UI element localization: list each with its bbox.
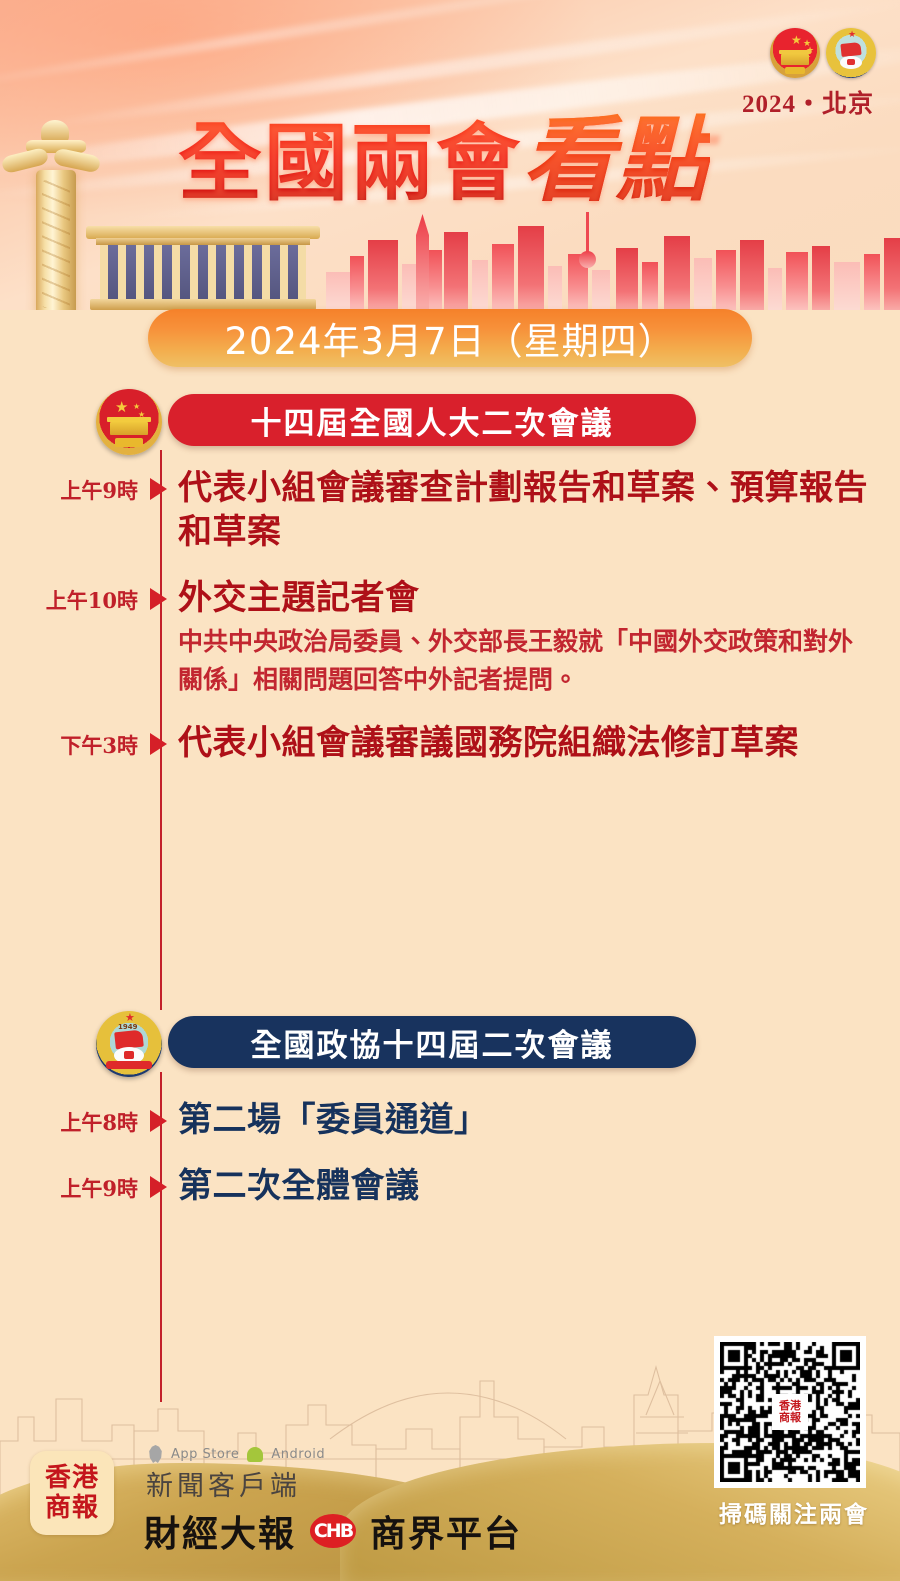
qr-code-image[interactable]: 香港商報 (714, 1336, 866, 1488)
timeline-item-title: 第二場「委員通道」 (178, 1098, 870, 1142)
city-skyline-graphic (320, 206, 900, 310)
national-emblem-prc-icon: ★ ★ ★ ★ ★ (96, 389, 162, 455)
tagline-left-label: 財經大報 (144, 1505, 296, 1557)
section-banner-npc: ★ ★ ★ ★ ★ 十四屆全國人大二次會議 (0, 394, 900, 450)
timeline-item-time: 上午8時 (0, 1098, 148, 1137)
section-title-bar-cppcc: 全國政協十四屆二次會議 (168, 1016, 696, 1068)
date-banner: 2024年3月7日（星期四） (148, 309, 752, 367)
qr-code-block[interactable]: 香港商報 掃碼關注兩會 (714, 1336, 874, 1529)
skyline-building (716, 250, 736, 310)
timeline-item-desc: 中共中央政治局委員、外交部長王毅就「中國外交政策和對外關係」相關問題回答中外記者… (178, 623, 870, 699)
light-swoosh-5 (0, 0, 696, 95)
section-cppcc: ★ 1949 全國政協十四屆二次會議 上午8時 第二場「委員通道」 (0, 1016, 900, 1214)
timeline-item: 上午9時 代表小組會議審查計劃報告和草案、預算報告和草案 (0, 466, 900, 554)
qr-center-line2: 商報 (779, 1411, 801, 1424)
timeline-item-body: 代表小組會議審議國務院組織法修訂草案 (178, 721, 900, 765)
hk-logo-line1: 香港 (45, 1463, 99, 1493)
date-banner-label: 2024年3月7日（星期四） (224, 311, 675, 365)
chb-logo-icon: CHB (310, 1514, 356, 1548)
timeline-item: 下午3時 代表小組會議審議國務院組織法修訂草案 (0, 721, 900, 765)
timeline-item-time: 下午3時 (0, 721, 148, 760)
skyline-building (694, 258, 712, 310)
timeline-cppcc: 上午8時 第二場「委員通道」 上午9時 第二次全體會議 (0, 1098, 900, 1208)
skyline-building (864, 254, 880, 310)
skyline-building (592, 270, 610, 310)
skyline-building (472, 260, 488, 310)
poster-header: ★ ★ ★ ★ ★ ★ 2024・北京 全國兩會看點 (0, 0, 900, 310)
timeline-arrow-icon (150, 1164, 178, 1198)
timeline-item-title: 外交主題記者會 (178, 576, 870, 620)
timeline-item: 上午9時 第二次全體會議 (0, 1164, 900, 1208)
section-title-bar-npc: 十四屆全國人大二次會議 (168, 394, 696, 446)
skyline-building (812, 246, 830, 310)
timeline-arrow-icon (150, 576, 178, 610)
timeline-npc: 上午9時 代表小組會議審查計劃報告和草案、預算報告和草案 上午10時 外交主題記… (0, 466, 900, 765)
apple-icon (148, 1445, 163, 1463)
page-title-accent: 看點 (522, 106, 710, 214)
skyline-building (786, 252, 808, 310)
app-store-badges: App Store Android (148, 1445, 325, 1463)
skyline-building (884, 238, 900, 310)
qr-center-logo: 香港商報 (772, 1394, 808, 1430)
timeline-item: 上午8時 第二場「委員通道」 (0, 1098, 900, 1142)
section-title-cppcc: 全國政協十四屆二次會議 (251, 1020, 614, 1065)
skyline-building (616, 248, 638, 310)
hk-commercial-daily-logo: 香港商報 (30, 1451, 114, 1535)
section-title-npc: 十四屆全國人大二次會議 (251, 398, 614, 443)
skyline-building (350, 256, 364, 310)
android-icon (247, 1447, 263, 1462)
timeline-item-body: 第二場「委員通道」 (178, 1098, 900, 1142)
timeline-item-body: 第二次全體會議 (178, 1164, 900, 1208)
timeline-arrow-icon (150, 721, 178, 755)
footer-tagline: 財經大報 CHB 商界平台 (144, 1505, 522, 1557)
news-client-label: 新聞客戶端 (146, 1464, 301, 1503)
timeline-item-time: 上午9時 (0, 466, 148, 505)
skyline-building (326, 272, 352, 310)
timeline-arrow-icon (150, 466, 178, 500)
qr-caption: 掃碼關注兩會 (714, 1495, 874, 1529)
poster-root: ★ ★ ★ ★ ★ ★ 2024・北京 全國兩會看點 2024年3月7日（星期四… (0, 0, 900, 1581)
skyline-building (368, 240, 398, 310)
timeline-item-body: 代表小組會議審查計劃報告和草案、預算報告和草案 (178, 466, 900, 554)
skyline-building (768, 268, 782, 310)
skyline-building (834, 262, 860, 310)
section-emblem-cppcc: ★ 1949 (96, 1011, 162, 1077)
app-store-label: App Store (171, 1447, 239, 1462)
great-hall-of-people-graphic (86, 226, 320, 310)
skyline-building (664, 236, 690, 310)
page-title: 全國兩會看點 (178, 116, 710, 207)
skyline-mast (586, 212, 589, 252)
skyline-building (642, 262, 658, 310)
timeline-item-time: 上午10時 (0, 576, 148, 615)
timeline-item-body: 外交主題記者會 中共中央政治局委員、外交部長王毅就「中國外交政策和對外關係」相關… (178, 576, 900, 699)
huabiao-pillar-icon (8, 112, 98, 310)
skyline-building (444, 232, 468, 310)
cppcc-emblem-icon: ★ (826, 28, 876, 78)
year-city-label: 2024・北京 (742, 84, 874, 120)
poster-footer: 香港商報 App Store Android 新聞客戶端 財經大報 CHB 商界… (0, 1281, 900, 1581)
timeline-item-time: 上午9時 (0, 1164, 148, 1203)
national-emblem-prc-icon: ★ ★ ★ ★ ★ (770, 28, 820, 78)
skyline-tower (416, 214, 429, 310)
timeline-item-title: 代表小組會議審查計劃報告和草案、預算報告和草案 (178, 466, 870, 554)
timeline-item-title: 第二次全體會議 (178, 1164, 870, 1208)
skyline-building (518, 226, 544, 310)
section-banner-cppcc: ★ 1949 全國政協十四屆二次會議 (0, 1016, 900, 1072)
android-label: Android (271, 1447, 325, 1462)
skyline-building (740, 240, 764, 310)
page-title-main: 全國兩會 (178, 114, 522, 212)
skyline-pearl-tower-ball (579, 251, 596, 268)
section-npc: ★ ★ ★ ★ ★ 十四屆全國人大二次會議 上午9時 代表小組會議審查計劃報告和… (0, 394, 900, 771)
section-emblem-npc: ★ ★ ★ ★ ★ (96, 389, 162, 455)
timeline-item-title: 代表小組會議審議國務院組織法修訂草案 (178, 721, 870, 765)
timeline-item: 上午10時 外交主題記者會 中共中央政治局委員、外交部長王毅就「中國外交政策和對… (0, 576, 900, 699)
cppcc-emblem-icon: ★ 1949 (96, 1011, 162, 1077)
timeline-arrow-icon (150, 1098, 178, 1132)
skyline-building (548, 266, 562, 310)
hk-logo-line2: 商報 (45, 1493, 99, 1523)
skyline-building (492, 244, 514, 310)
top-emblems-group: ★ ★ ★ ★ ★ ★ 2024・北京 (722, 28, 882, 124)
tagline-right-label: 商界平台 (370, 1505, 522, 1557)
